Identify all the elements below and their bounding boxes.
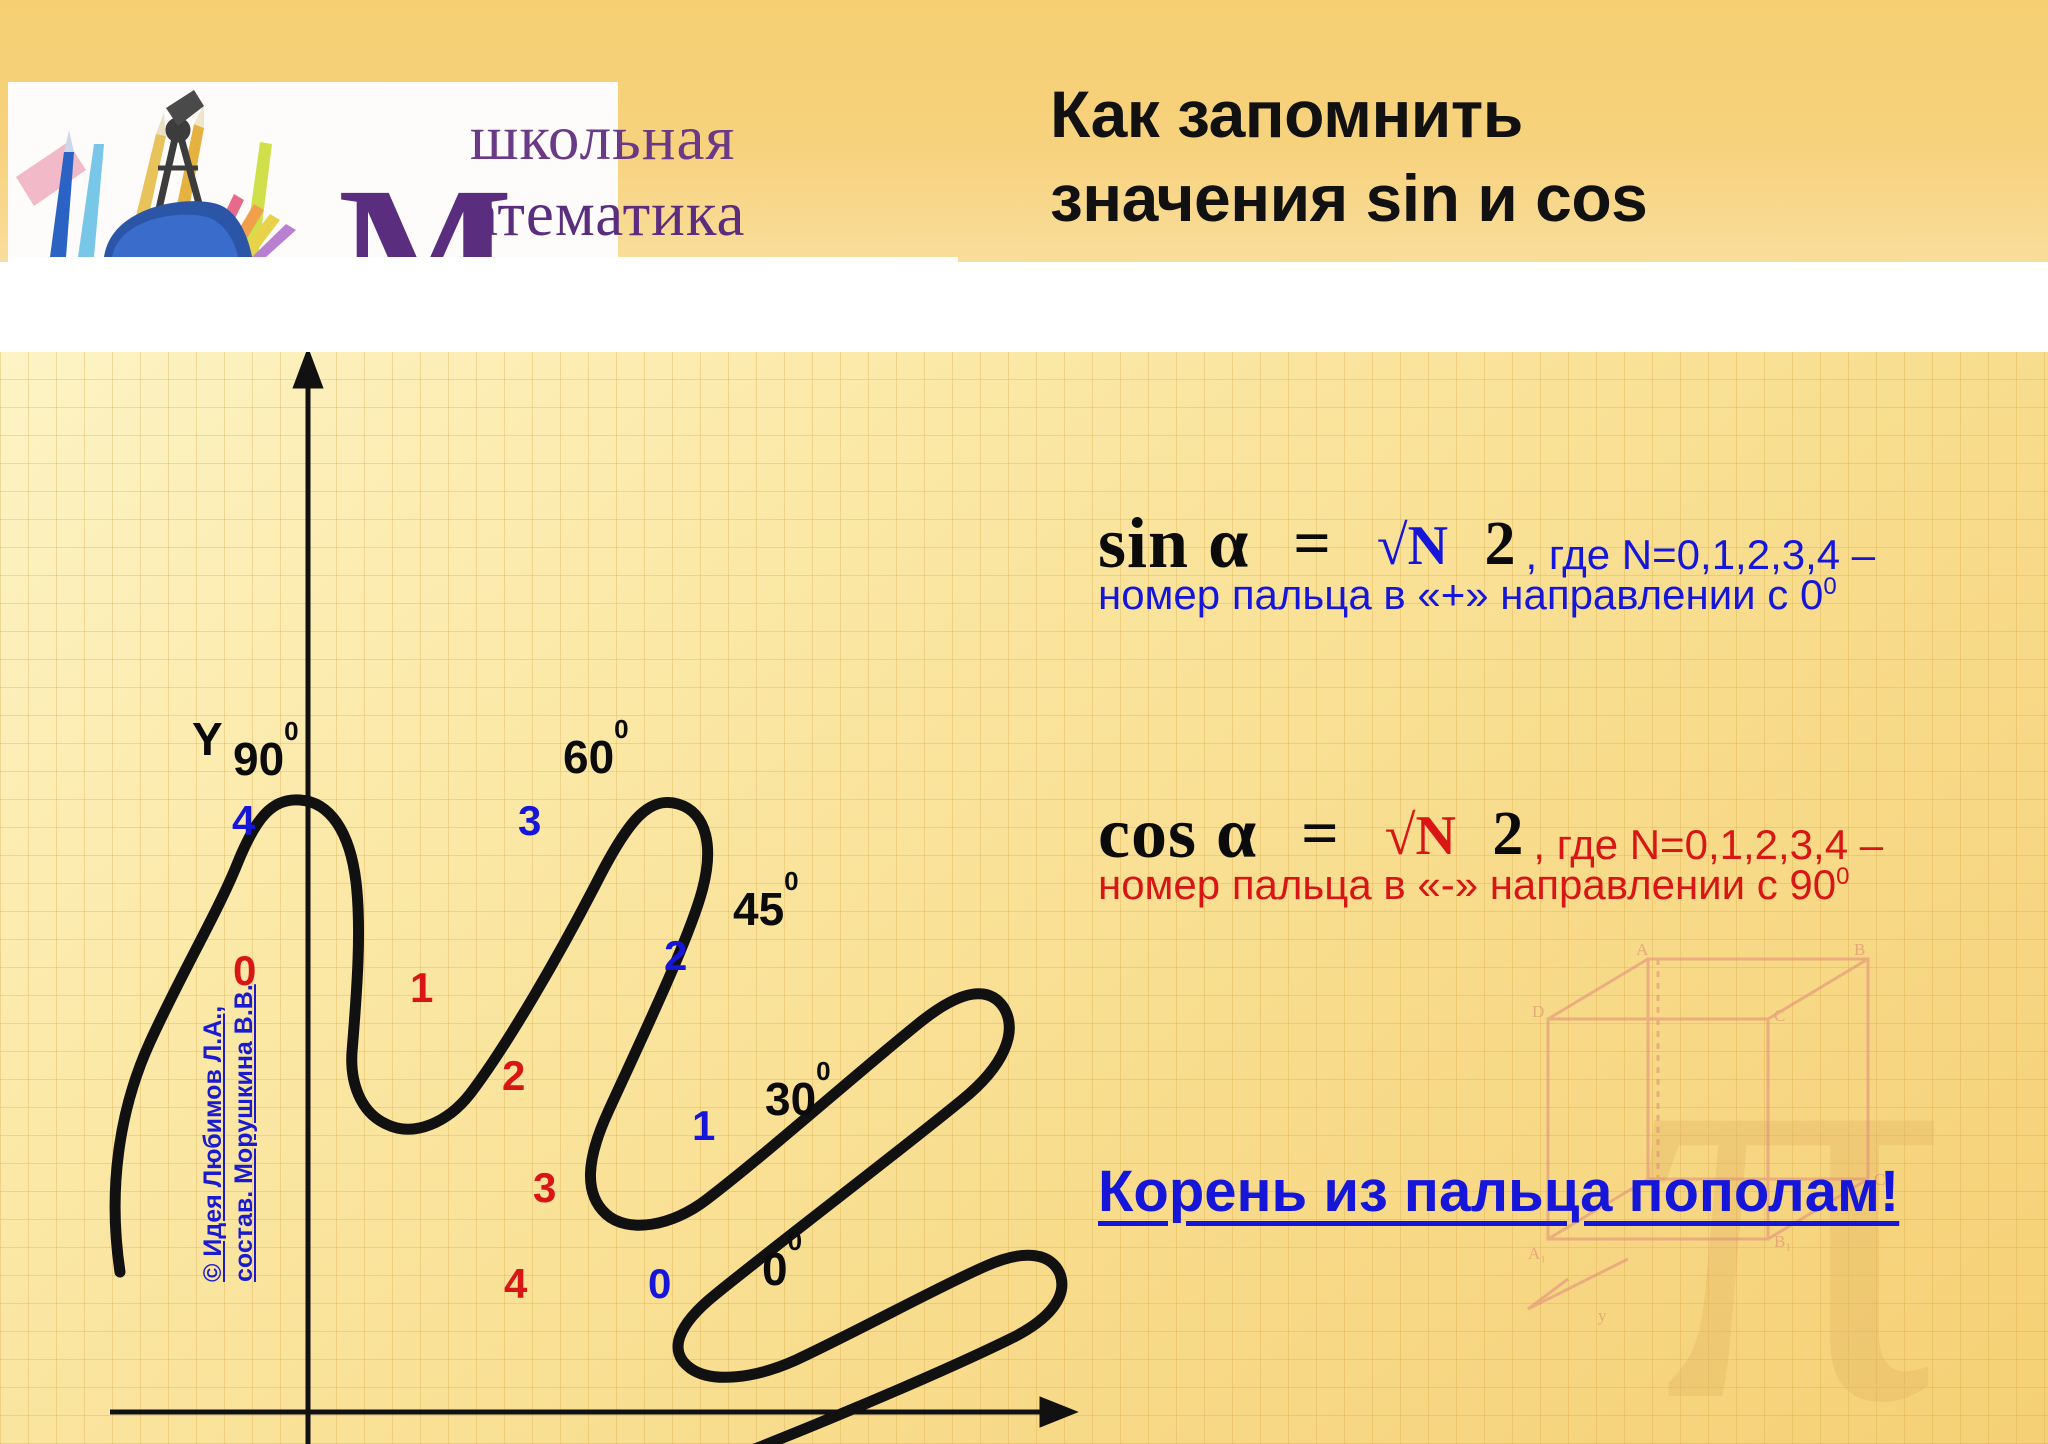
slide-body: π AB DC A₁B₁ C₁ y <box>0 352 2048 1444</box>
finger-blue-1: 1 <box>692 1102 715 1150</box>
finger-red-2: 2 <box>502 1052 525 1100</box>
logo-word-bottom: атематика <box>470 178 745 251</box>
svg-text:y: y <box>1598 1306 1607 1325</box>
page-title-line2: значения sin и cos <box>1050 156 1990 240</box>
sin-formula-block: sin α = √N 2 , где N=0,1,2,3,4 – номер п… <box>1098 502 1875 619</box>
svg-text:B₁: B₁ <box>1774 1232 1791 1251</box>
sin-note-sup: 0 <box>1823 573 1836 600</box>
cos-formula-block: cos α = √N 2 , где N=0,1,2,3,4 – номер п… <box>1098 792 1883 909</box>
angle-label-60: 600 <box>563 730 629 784</box>
svg-text:A: A <box>1636 940 1649 959</box>
page-title: Как запомнить значения sin и cos <box>1050 72 1990 241</box>
logo-plate-lower <box>8 257 958 352</box>
finger-red-4: 4 <box>504 1260 527 1308</box>
svg-text:B: B <box>1854 940 1865 959</box>
angle-label-45: 450 <box>733 882 799 936</box>
credit-note: © Идея Любимов Л.А., состав. Морушкина В… <box>198 962 261 1282</box>
slide-root: М школьная атематика Как запомнить значе… <box>0 0 2048 1444</box>
finger-blue-2: 2 <box>664 932 687 980</box>
sin-fraction: √N 2 <box>1365 513 1516 575</box>
cos-denominator: 2 <box>1492 794 1523 868</box>
axis-y-label: Y <box>192 712 223 766</box>
finger-blue-3: 3 <box>518 797 541 845</box>
angle-label-0: 00 <box>762 1242 802 1296</box>
cube-watermark-icon: AB DC A₁B₁ C₁ y <box>1508 929 1938 1334</box>
cos-note-text: номер пальца в «-» направлении с 90 <box>1098 861 1836 908</box>
cos-note: номер пальца в «-» направлении с 900 <box>1098 861 1883 909</box>
cos-note-sup: 0 <box>1836 863 1849 890</box>
finger-blue-4: 4 <box>232 797 255 845</box>
svg-text:A₁: A₁ <box>1528 1244 1546 1263</box>
page-title-line1: Как запомнить <box>1050 77 1523 151</box>
sin-note: номер пальца в «+» направлении с 00 <box>1098 571 1875 619</box>
svg-text:C: C <box>1774 1006 1785 1025</box>
cos-fraction: √N 2 <box>1373 803 1524 865</box>
hand-diagram <box>0 352 1100 1444</box>
sin-note-text: номер пальца в «+» направлении с 0 <box>1098 571 1823 618</box>
punchline-text[interactable]: Корень из пальца пополам! <box>1098 1158 1899 1225</box>
angle-label-30: 300 <box>765 1072 831 1126</box>
logo-word-top: школьная <box>470 102 735 175</box>
credit-line-1: © Идея Любимов Л.А., <box>198 962 229 1282</box>
credit-line-2: состав. Морушкина В.В. <box>229 962 260 1282</box>
sin-denominator: 2 <box>1485 504 1516 578</box>
finger-red-3: 3 <box>533 1164 556 1212</box>
finger-red-1: 1 <box>410 964 433 1012</box>
svg-text:D: D <box>1532 1002 1544 1021</box>
finger-blue-0: 0 <box>648 1260 671 1308</box>
angle-label-90: 900 <box>233 732 299 786</box>
